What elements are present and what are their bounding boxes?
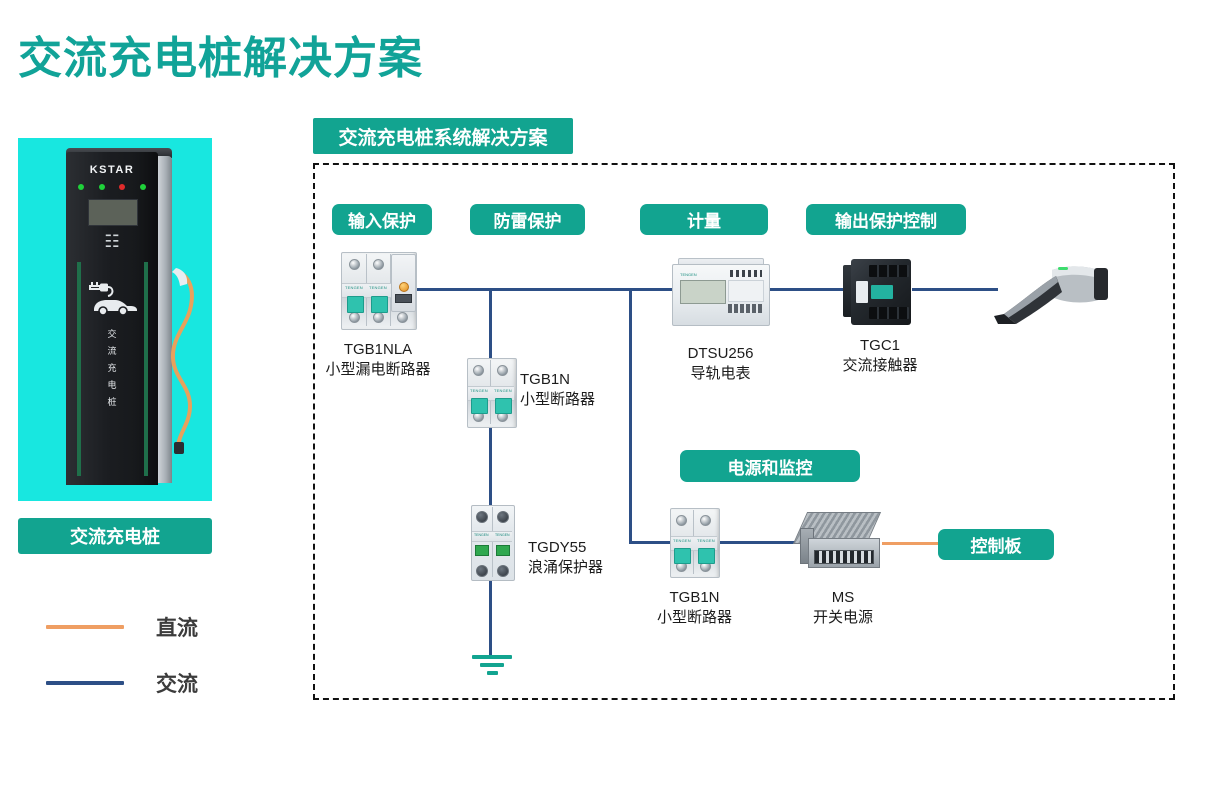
led-indicator [78,184,84,190]
pile-display-screen [88,199,138,226]
pile-brand-label: KSTAR [66,164,158,176]
breaker-toggle[interactable] [698,548,715,564]
label-input-protection: 输入保护 [332,204,432,235]
wire-ac-branch-psu [629,288,632,544]
breaker-terminal-screw [397,312,408,323]
component-name: 浪涌保护器 [528,558,658,578]
component-model: MS [788,588,898,608]
pile-vertical-text: 交流充电桩 [94,326,130,411]
wire-ac-spd-to-ground [489,578,492,658]
component-mcb-tgb1n-lower: TENGEN TENGEN [670,508,718,576]
wire-ac-meter-to-contactor [762,288,846,291]
caption-mcb-tgb1n-lower: TGB1N 小型断路器 [622,588,767,628]
component-model: TGDY55 [528,538,658,558]
led-indicator [99,184,105,190]
psu-terminal-block [814,550,874,564]
meter-lcd-display [680,280,726,304]
component-power-supply-ms [800,512,886,570]
component-spd-tgdy55: TENGEN TENGEN [471,505,513,579]
ev-car-plug-icon [86,278,138,316]
spd-terminal [476,565,488,577]
breaker-terminal-screw [373,312,384,323]
breaker-terminal-screw [473,365,484,376]
meter-brand: TENGEN [680,272,697,277]
rfid-wave-icon: ☷ [96,232,128,252]
component-name: 小型断路器 [622,608,767,628]
wire-ac-branch-surge [489,288,492,360]
breaker-terminal-screw [497,365,508,376]
legend-line-dc [46,625,124,629]
breaker-terminal-screw [373,259,384,270]
label-output-control: 输出保护控制 [806,204,966,235]
wire-ac-contactor-to-gun [912,288,998,291]
label-control-board: 控制板 [938,529,1054,560]
system-banner: 交流充电桩系统解决方案 [313,118,573,154]
legend-label-dc: 直流 [156,612,198,642]
caption-mcb-tgb1n-upper: TGB1N 小型断路器 [520,370,660,410]
wire-ac-mcb-to-spd [489,424,492,506]
component-model: TGC1 [815,336,945,356]
breaker-terminal-screw [700,515,711,526]
label-surge-protection: 防雷保护 [470,204,585,235]
spd-terminal [476,511,488,523]
product-caption: 交流充电桩 [18,518,212,554]
charging-cable-and-gun [164,266,198,456]
legend-line-ac [46,681,124,685]
component-model: TGB1NLA [292,340,464,360]
wire-dc-psu-to-control-board [882,542,940,545]
component-name: 小型断路器 [520,390,660,410]
label-power-monitoring: 电源和监控 [680,450,860,482]
ev-charging-gun [990,258,1108,330]
pile-light-stripe-right [144,262,148,476]
component-name: 开关电源 [788,608,898,628]
component-model: DTSU256 [648,344,793,364]
rcd-indicator-window [395,294,412,303]
rcd-test-button[interactable] [399,282,409,292]
meter-spec-plate [728,280,764,302]
component-name: 小型漏电断路器 [292,360,464,380]
spd-terminal [497,565,509,577]
component-name: 导轨电表 [648,364,793,384]
breaker-toggle[interactable] [347,296,364,313]
pile-status-leds [78,184,146,190]
component-rcbo-tgb1nla: TENGEN TENGEN [341,252,415,328]
component-contactor-tgc1 [843,255,917,329]
contactor-bottom-terminals [869,307,909,319]
breaker-terminal-screw [349,312,360,323]
legend-item-ac: 交流 [46,668,198,698]
caption-rcbo-tgb1nla: TGB1NLA 小型漏电断路器 [292,340,464,380]
product-image-charging-pile: KSTAR ☷ 交流充电桩 [18,138,212,501]
contactor-coil-indicator [871,285,893,299]
spd-status-window [475,545,489,556]
caption-power-supply-ms: MS 开关电源 [788,588,898,628]
led-indicator [119,184,125,190]
breaker-terminal-screw [676,515,687,526]
ground-symbol [472,655,512,677]
legend-label-ac: 交流 [156,668,198,698]
label-metering: 计量 [640,204,768,235]
breaker-toggle[interactable] [471,398,488,414]
spd-terminal [497,511,509,523]
led-indicator [140,184,146,190]
component-model: TGB1N [520,370,660,390]
meter-terminal-row [730,270,762,277]
component-model: TGB1N [622,588,767,608]
contactor-label-plate [856,281,868,303]
contactor-top-terminals [869,265,909,277]
component-mcb-tgb1n-upper: TENGEN TENGEN [467,358,515,426]
caption-meter-dtsu256: DTSU256 导轨电表 [648,344,793,384]
caption-contactor-tgc1: TGC1 交流接触器 [815,336,945,376]
breaker-toggle[interactable] [674,548,691,564]
caption-spd-tgdy55: TGDY55 浪涌保护器 [528,538,658,578]
spd-status-window [496,545,510,556]
spd-divider [492,507,493,577]
legend-item-dc: 直流 [46,612,198,642]
page-title: 交流充电桩解决方案 [18,22,423,86]
breaker-toggle[interactable] [371,296,388,313]
component-name: 交流接触器 [815,356,945,376]
meter-bottom-terminals [728,304,762,313]
pile-light-stripe-left [77,262,81,476]
component-meter-dtsu256: TENGEN [672,258,768,328]
wire-ac-mcb-to-psu [718,541,804,544]
breaker-terminal-screw [349,259,360,270]
wire-ac-main-bus [414,288,672,291]
breaker-toggle[interactable] [495,398,512,414]
